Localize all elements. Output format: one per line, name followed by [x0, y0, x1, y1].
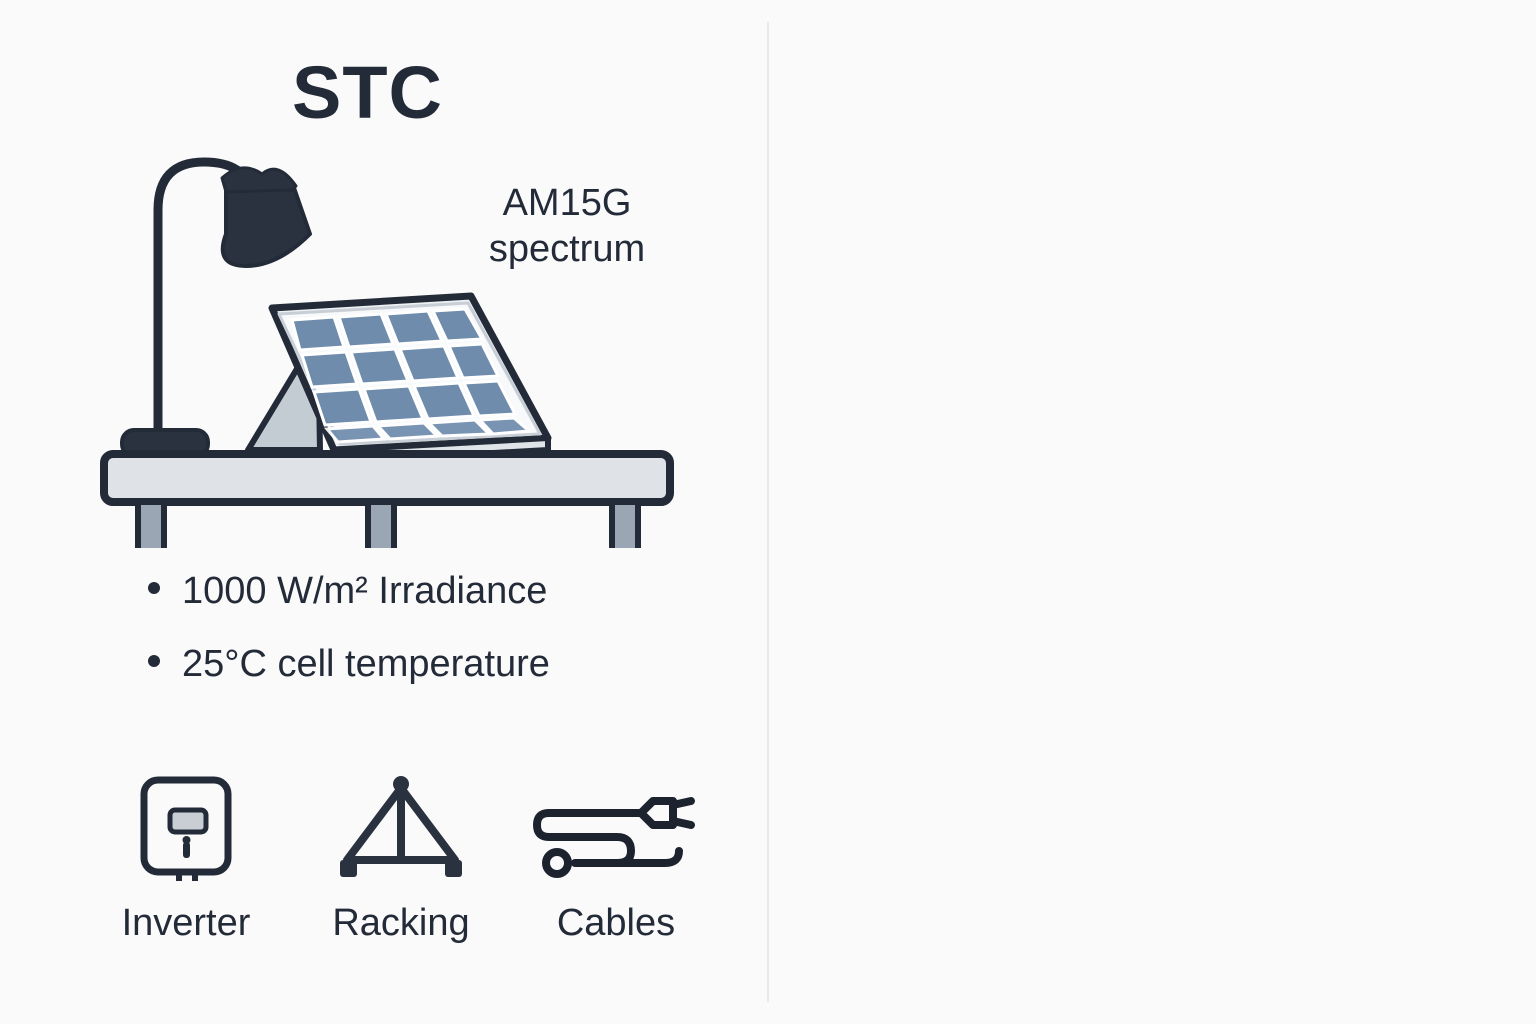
equipment-label: Inverter [122, 902, 251, 945]
bullet-dot-icon [148, 655, 160, 667]
racking-icon [331, 768, 471, 888]
equipment-item-inverter[interactable]: Inverter [96, 768, 276, 945]
equipment-label: Racking [332, 902, 469, 945]
equipment-item-cables[interactable]: Cables [526, 768, 706, 945]
bullet-dot-icon [148, 582, 160, 594]
stc-equipment-row: Inverter Racking [96, 768, 706, 945]
bench-icon [104, 454, 670, 548]
bullet-text: 1000 W/m² Irradiance [182, 570, 547, 613]
equipment-label: Cables [557, 902, 675, 945]
infographic-canvas: STC AM15G spectrum [0, 0, 1536, 1024]
cables-icon [531, 768, 701, 888]
stc-panel: STC AM15G spectrum [0, 0, 767, 1024]
stc-bullet-list: 1000 W/m² Irradiance 25°C cell temperatu… [148, 570, 550, 716]
stc-illustration [96, 148, 696, 553]
equipment-item-racking[interactable]: Racking [311, 768, 491, 945]
bullet-text: 25°C cell temperature [182, 643, 550, 686]
inverter-icon [126, 768, 246, 888]
noct-panel: NOCT ~45°C cell temp [769, 0, 1536, 1024]
list-item: 1000 W/m² Irradiance [148, 570, 550, 613]
list-item: 25°C cell temperature [148, 643, 550, 686]
page-title-stc: STC [292, 56, 443, 130]
